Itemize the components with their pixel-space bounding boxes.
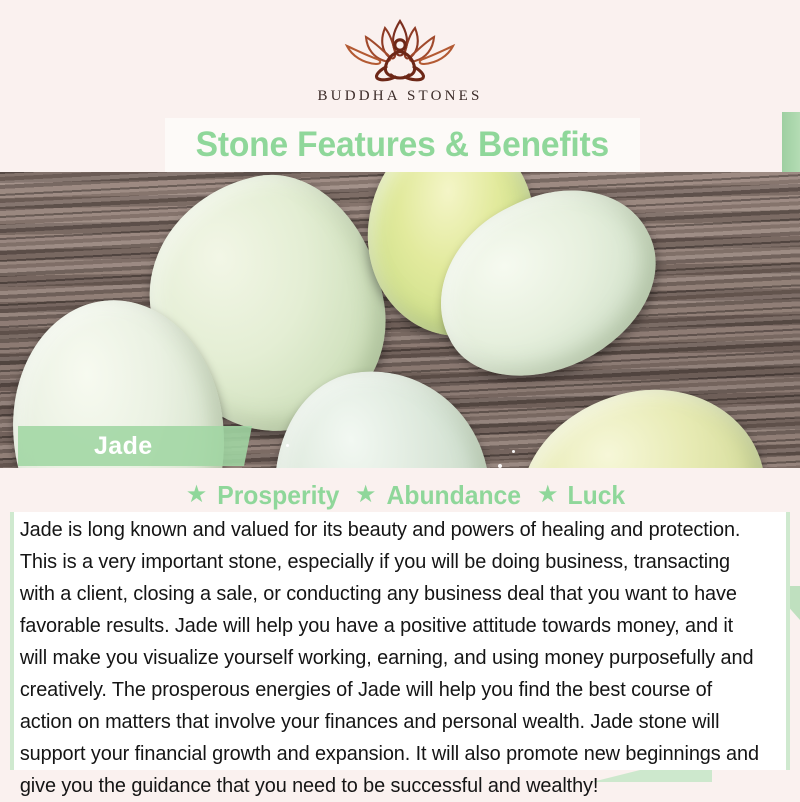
page-title: Stone Features & Benefits <box>196 125 609 165</box>
description-text: Jade is long known and valued for its be… <box>14 512 763 802</box>
benefits-row: ★ Prosperity ★ Abundance ★ Luck <box>0 478 800 512</box>
benefit-label-2: Abundance <box>387 480 521 511</box>
description-panel: Jade is long known and valued for its be… <box>14 512 786 770</box>
body-edge-right <box>786 512 790 770</box>
stone-name-label: Jade <box>94 432 153 461</box>
page-title-band: Stone Features & Benefits <box>165 118 640 172</box>
stone-benefits-infographic: { "brand": { "name": "BUDDHA STONES", "l… <box>0 0 800 800</box>
benefit-label-3: Luck <box>567 480 625 511</box>
brand-name: BUDDHA STONES <box>317 88 482 105</box>
stone-photo <box>0 172 800 468</box>
brand-logo: BUDDHA STONES <box>0 0 800 120</box>
star-icon: ★ <box>537 483 559 507</box>
sparkle-4 <box>286 444 289 447</box>
star-icon: ★ <box>186 483 208 507</box>
lotus-meditation-icon <box>325 18 475 84</box>
benefit-item-2: ★ Abundance <box>343 480 525 511</box>
benefit-label-1: Prosperity <box>218 480 340 511</box>
benefit-item-3: ★ Luck <box>525 480 626 511</box>
sparkle-1 <box>498 464 502 468</box>
sparkle-2 <box>512 450 515 453</box>
stone-name-badge: Jade <box>18 426 252 466</box>
benefit-item-1: ★ Prosperity <box>174 480 343 511</box>
star-icon: ★ <box>355 483 377 507</box>
